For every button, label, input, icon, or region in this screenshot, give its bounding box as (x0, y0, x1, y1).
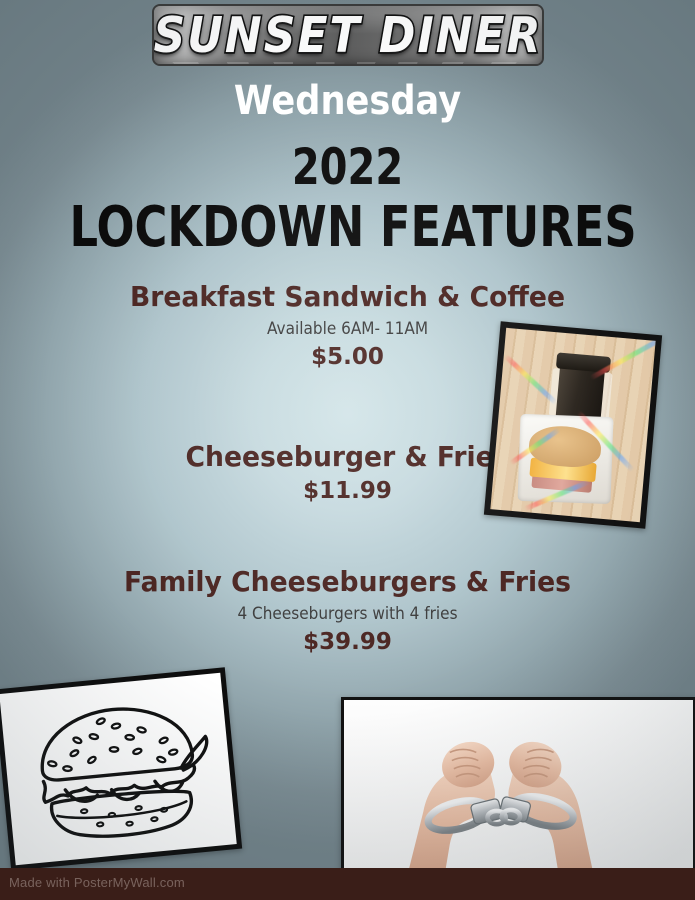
logo-plate: SUNSET DINER (152, 4, 544, 66)
menu-item-name: Family Cheeseburgers & Fries (17, 565, 677, 598)
footer-bar: Made with PosterMyWall.com (0, 868, 695, 900)
logo-text: SUNSET DINER (154, 4, 542, 66)
handcuffed-hands-icon (344, 700, 693, 870)
drawing-inner (0, 673, 237, 865)
postermywall-watermark: Made with PosterMyWall.com (9, 875, 185, 890)
photo-inner (344, 700, 693, 870)
year-heading: 2022 (70, 138, 626, 196)
handcuffed-hands-photo (341, 697, 695, 873)
day-heading: Wednesday (42, 78, 654, 124)
menu-item-name: Breakfast Sandwich & Coffee (17, 280, 677, 313)
burger-line-drawing (0, 667, 242, 870)
poster-canvas: SUNSET DINER Wednesday 2022 LOCKDOWN FEA… (0, 0, 695, 900)
menu-item-family: Family Cheeseburgers & Fries 4 Cheesebur… (0, 565, 695, 655)
sunset-diner-logo: SUNSET DINER (152, 4, 544, 66)
menu-item-price: $39.99 (0, 629, 695, 655)
feature-title: LOCKDOWN FEATURES (70, 195, 626, 260)
breakfast-sandwich-and-coffee-photo (484, 321, 662, 528)
burger-drawing-icon (0, 673, 237, 865)
photo-inner (490, 328, 655, 522)
menu-item-subtitle: 4 Cheeseburgers with 4 fries (35, 604, 661, 624)
